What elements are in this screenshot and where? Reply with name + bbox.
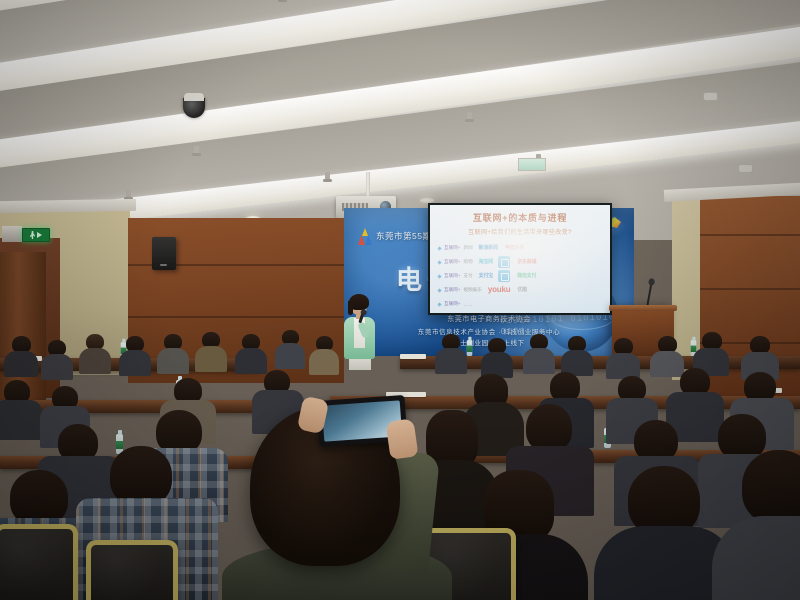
brand-logo: 支付宝	[479, 274, 493, 279]
slide-row: 互联网+ ……	[438, 297, 602, 311]
bullet-icon	[437, 260, 441, 264]
slide-bullet-list: 互联网+ 新闻 新浪新闻 今日头条 互联网+ 购物 淘宝网 京东商城	[438, 241, 602, 311]
brand-logo: 微信支付	[517, 274, 536, 279]
emergency-light-box	[2, 226, 22, 242]
photographer-hand-right	[385, 418, 418, 460]
brand-logo: youku	[488, 286, 511, 294]
bullet-icon	[437, 302, 441, 306]
app-tile-icon	[498, 270, 510, 282]
handout-sheet	[400, 354, 426, 359]
banquet-chair[interactable]	[86, 540, 178, 600]
brand-logo: 京东商城	[517, 260, 536, 265]
slide-row: 互联网+ 视频娱乐 youku 优酷	[438, 283, 602, 297]
wall-speaker	[152, 237, 176, 270]
banner-session-line: 东莞市第55期	[376, 230, 431, 242]
smoke-detector-icon	[738, 164, 753, 173]
association-emblem-icon	[358, 228, 372, 246]
attendee-taking-photo	[232, 392, 462, 600]
bullet-icon	[437, 288, 441, 292]
sprinkler-icon	[280, 0, 285, 1]
projector-mount	[366, 172, 370, 198]
bullet-icon	[437, 274, 441, 278]
banner-org-line-1: 东莞市电子商务技术协会	[344, 314, 634, 324]
brand-logo: 新浪新闻	[479, 246, 498, 251]
sprinkler-icon	[325, 172, 330, 181]
ceiling-light-icon	[518, 158, 546, 171]
sprinkler-icon	[126, 190, 131, 199]
exit-sign-icon	[22, 228, 50, 242]
app-tile-icon	[498, 256, 510, 268]
banner-org-line-2: 东莞市信息技术产业协会 · 科技创业服务中心	[344, 326, 634, 336]
running-man-icon	[30, 231, 35, 239]
smoke-detector-icon	[703, 92, 718, 101]
brand-logo: 今日头条	[505, 246, 524, 251]
slide-row: 互联网+ 新闻 新浪新闻 今日头条	[438, 241, 602, 255]
sprinkler-icon	[467, 112, 472, 121]
banquet-chair[interactable]	[0, 524, 78, 600]
conference-hall-photo: 010101010101 0101010101 01010101 0101 东莞…	[0, 0, 800, 600]
slide-title: 互联网+的本质与进程	[430, 211, 610, 224]
water-bottle	[467, 340, 473, 356]
brand-logo: 淘宝网	[479, 260, 493, 265]
projection-screen: 互联网+的本质与进程 互联网+给我们的生活带来哪些改变? 互联网+ 新闻 新浪新…	[428, 203, 612, 315]
sprinkler-icon	[194, 146, 199, 155]
slide-subtitle: 互联网+给我们的生活带来哪些改变?	[430, 227, 610, 236]
bullet-icon	[437, 246, 441, 250]
arrow-right-icon	[37, 232, 42, 238]
slide-row: 互联网+ 支付 支付宝 微信支付	[438, 269, 602, 283]
slide-row: 互联网+ 购物 淘宝网 京东商城	[438, 255, 602, 269]
brand-logo: 优酷	[517, 288, 527, 293]
